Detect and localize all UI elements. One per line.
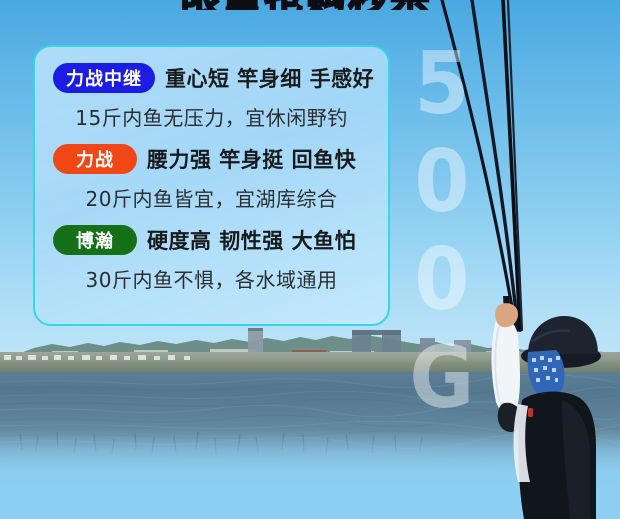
top-headline: 限量抢购秒杀 (180, 0, 480, 10)
feature-row: 力战中继 重心短 竿身细 手感好 15斤内鱼无压力，宜休闲野钓 (35, 61, 388, 140)
feature-title: 腰力强 竿身挺 回鱼快 (147, 144, 356, 174)
feature-row: 力战 腰力强 竿身挺 回鱼快 20斤内鱼皆宜，宜湖库综合 (35, 142, 388, 221)
feature-card: 力战中继 重心短 竿身细 手感好 15斤内鱼无压力，宜休闲野钓 力战 腰力强 竿… (33, 45, 390, 326)
feature-subtitle: 15斤内鱼无压力，宜休闲野钓 (35, 95, 388, 140)
feature-badge: 力战中继 (53, 63, 155, 93)
weight-watermark: 500G (407, 34, 475, 426)
feature-title: 重心短 竿身细 手感好 (165, 63, 374, 93)
feature-row: 博瀚 硬度高 韧性强 大鱼怕 30斤内鱼不惧，各水域通用 (35, 223, 388, 302)
feature-title: 硬度高 韧性强 大鱼怕 (147, 225, 356, 255)
feature-heading: 力战 腰力强 竿身挺 回鱼快 (35, 142, 388, 176)
feature-badge: 博瀚 (53, 225, 137, 255)
feature-heading: 博瀚 硬度高 韧性强 大鱼怕 (35, 223, 388, 257)
top-headline-main: 限量抢购 (180, 0, 348, 10)
feature-heading: 力战中继 重心短 竿身细 手感好 (35, 61, 388, 95)
top-headline-accent: 秒杀 (348, 0, 432, 10)
feature-badge: 力战 (53, 144, 137, 174)
angler-casting-rod (466, 296, 620, 519)
promo-stage: 500G 限量抢购秒杀 力战中继 重心短 竿身细 手感好 15斤内鱼无压力，宜休… (0, 0, 620, 519)
feature-subtitle: 20斤内鱼皆宜，宜湖库综合 (35, 176, 388, 221)
feature-subtitle: 30斤内鱼不惧，各水域通用 (35, 257, 388, 302)
